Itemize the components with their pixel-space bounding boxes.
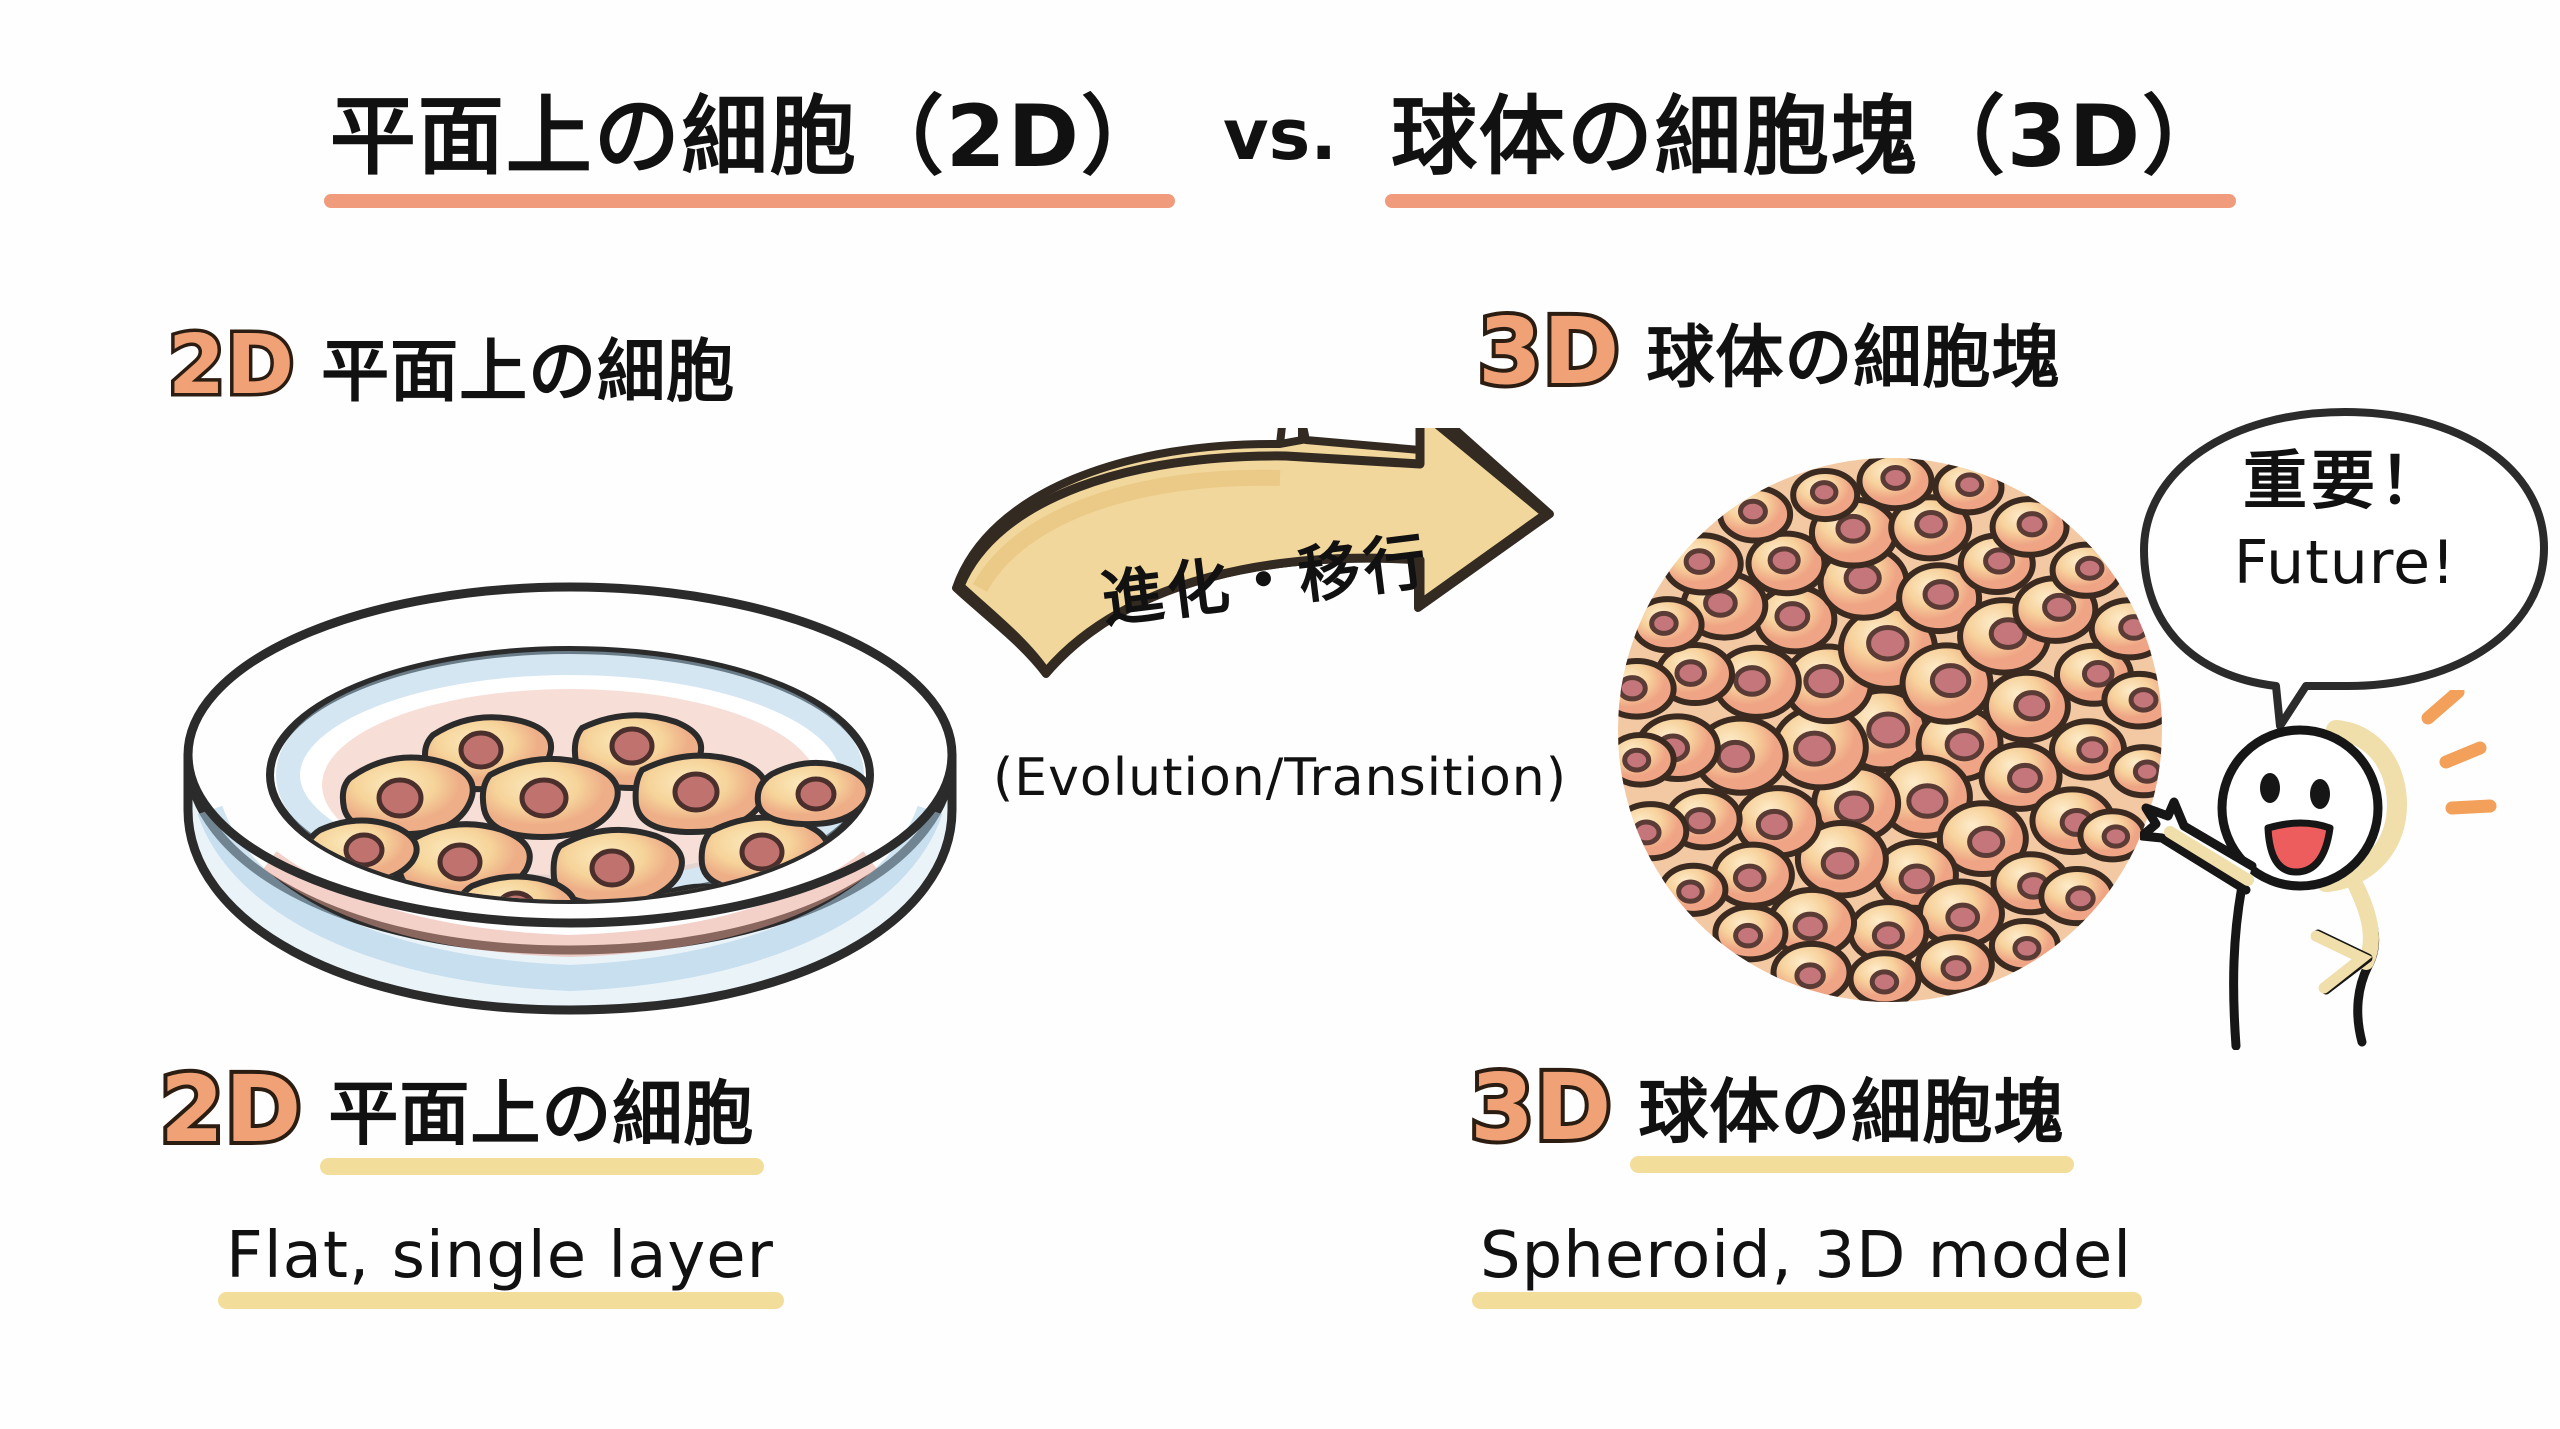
spheroid-cell-nucleus [2016, 693, 2048, 719]
title-left-part: 平面上の細胞（2D） [330, 92, 1169, 182]
speech-bubble [2130, 400, 2560, 730]
left-footer-en: Flat, single layer [226, 1219, 774, 1293]
badge-3d-top: 3D [1478, 306, 1620, 398]
right-footer-jp: 球体の細胞塊 [1638, 1071, 2064, 1153]
left-footer-jp-highlight [320, 1158, 764, 1175]
flat-cell [758, 763, 869, 824]
spheroid-cell-nucleus [1932, 666, 1969, 696]
left-panel-header-label: 平面上の細胞 [321, 316, 735, 415]
left-footer-jp: 平面上の細胞 [328, 1073, 754, 1155]
spheroid-cell-nucleus [1625, 750, 1649, 770]
left-footer-en-wrap: Flat, single layer [226, 1219, 774, 1295]
spheroid-cell-nucleus [1970, 828, 2003, 855]
spheroid-illustration [1590, 430, 2190, 1030]
eye-left [2260, 773, 2280, 803]
spheroid-cell-nucleus [1925, 582, 1956, 608]
right-footer-jp-row: 3D 球体の細胞塊 [1470, 1056, 2132, 1159]
spheroid-cell-nucleus [1823, 850, 1857, 878]
spheroid-cell-nucleus [1948, 905, 1978, 929]
spheroid-cell-nucleus [1679, 882, 1703, 901]
right-footer-jp-wrap: 球体の細胞塊 [1638, 1056, 2064, 1159]
right-footer-jp-highlight [1630, 1156, 2074, 1173]
title-left-underline [324, 194, 1175, 208]
left-footer-en-highlight [218, 1292, 784, 1309]
page-title: 平面上の細胞（2D） vs. 球体の細胞塊（3D） [0, 52, 2560, 182]
spheroid-cell-nucleus [1874, 924, 1902, 947]
title-right-text: 球体の細胞塊（3D） [1391, 87, 2230, 187]
badge-2d-top: 2D [168, 325, 295, 407]
spheroid-cell-nucleus [1652, 613, 1676, 633]
emphasis-lines-icon [2428, 692, 2490, 808]
badge-3d-bottom: 3D [1470, 1062, 1612, 1154]
spheroid-cell-nucleus [1836, 793, 1871, 822]
spheroid-cell-nucleus [1686, 551, 1712, 573]
speech-bubble-shape [2144, 412, 2544, 726]
spheroid-cell-nucleus [1677, 662, 1705, 685]
left-footer-jp-wrap: 平面上の細胞 [328, 1058, 754, 1161]
spheroid-cell-group [1600, 454, 2176, 1004]
right-panel-header: 3D 球体の細胞塊 [1478, 302, 2060, 401]
right-footer-en-row: Spheroid, 3D model [1480, 1219, 2132, 1295]
spheroid-cell-nucleus [1634, 822, 1659, 843]
spheroid-cell-nucleus [1740, 501, 1765, 521]
spheroid-cell-nucleus [2068, 888, 2093, 909]
right-footer-en: Spheroid, 3D model [1480, 1219, 2132, 1293]
left-footer-en-row: Flat, single layer [226, 1219, 774, 1295]
spheroid-cell-nucleus [2079, 739, 2106, 761]
spheroid-cell-nucleus [1883, 467, 1908, 488]
left-footer-jp-row: 2D 平面上の細胞 [160, 1058, 774, 1161]
spheroid-cell-nucleus [1806, 666, 1842, 695]
spheroid-cell-nucleus [1777, 604, 1808, 629]
flat-cell [483, 759, 618, 837]
spheroid-cell-nucleus [2104, 827, 2128, 846]
left-panel-footer: 2D 平面上の細胞 Flat, single layer [160, 1058, 774, 1295]
arrow-body [960, 428, 1546, 672]
spheroid-cell-nucleus [2015, 938, 2039, 958]
right-footer-en-wrap: Spheroid, 3D model [1480, 1219, 2132, 1295]
spheroid-cell-nucleus [2045, 595, 2074, 619]
spheroid-cell-nucleus [1909, 786, 1946, 816]
title-left-text: 平面上の細胞（2D） [330, 87, 1169, 187]
spheroid-cell-nucleus [1686, 810, 1713, 832]
spheroid-cell-nucleus [1736, 668, 1769, 695]
spheroid-cell-nucleus [1758, 811, 1790, 837]
badge-2d-bottom: 2D [160, 1064, 302, 1156]
spheroid-cell-nucleus [1917, 512, 1946, 535]
flat-cell [306, 820, 417, 882]
spheroid-cell-nucleus [2019, 514, 2045, 535]
spheroid-cell-nucleus [1869, 627, 1907, 659]
spheroid-cell-nucleus [1795, 914, 1825, 939]
spheroid-cell-nucleus [1872, 972, 1896, 992]
spheroid-cell-nucleus [1619, 678, 1645, 699]
spheroid-cell-nucleus [1797, 965, 1823, 987]
happy-stick-figure [2140, 690, 2560, 1050]
spheroid-cell-nucleus [1901, 866, 1932, 892]
right-panel-footer: 3D 球体の細胞塊 Spheroid, 3D model [1470, 1056, 2132, 1295]
spheroid-cell-nucleus [1947, 731, 1982, 759]
spheroid-cell-nucleus [1718, 742, 1752, 770]
right-panel-header-label: 球体の細胞塊 [1646, 302, 2060, 401]
spheroid-cell-nucleus [1869, 714, 1908, 746]
spheroid-cell-nucleus [2010, 765, 2041, 790]
spheroid-cell-nucleus [1796, 733, 1834, 764]
body-left [2234, 876, 2244, 1046]
transition-arrow [950, 428, 1570, 728]
petri-dish-illustration [150, 560, 990, 1030]
title-vs-text: vs. [1223, 94, 1337, 176]
left-panel-header: 2D 平面上の細胞 [168, 316, 735, 415]
spheroid-cell-nucleus [1838, 516, 1868, 541]
right-footer-en-highlight [1472, 1292, 2142, 1309]
spheroid-cell-nucleus [1736, 925, 1761, 945]
spheroid-cell-nucleus [1846, 565, 1879, 592]
spheroid-cell-nucleus [2084, 663, 2112, 686]
spheroid-cell-nucleus [2077, 558, 2101, 578]
spheroid-cell-nucleus [1735, 866, 1764, 889]
spheroid-cell-nucleus [1958, 475, 1982, 495]
infographic-canvas: 平面上の細胞（2D） vs. 球体の細胞塊（3D） 2D 平面上の細胞 3D 球… [0, 0, 2560, 1429]
eye-right [2310, 779, 2330, 809]
title-right-underline [1385, 194, 2236, 208]
spheroid-cell-nucleus [1770, 549, 1798, 572]
spheroid-cell-nucleus [1812, 483, 1836, 502]
hip-arm-shadow [2316, 936, 2362, 988]
spheroid-cell-nucleus [1943, 958, 1969, 979]
title-right-part: 球体の細胞塊（3D） [1391, 92, 2230, 182]
arrow-caption: (Evolution/Transition) [960, 748, 1600, 808]
